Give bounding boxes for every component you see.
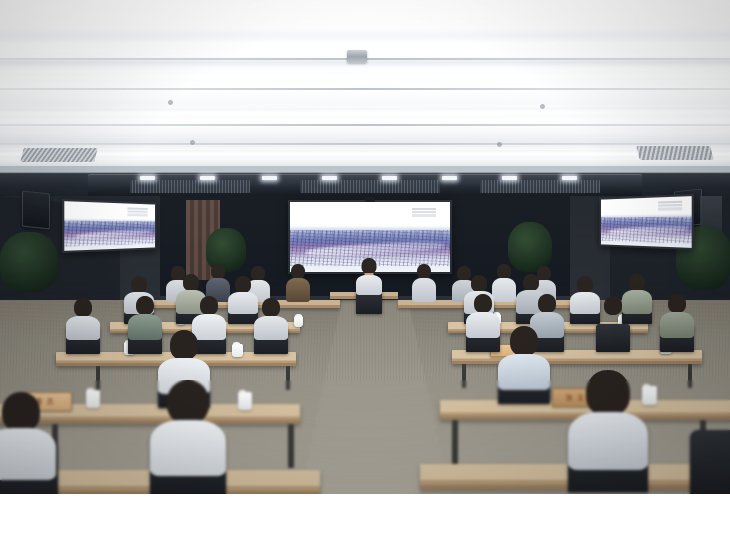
right-display-screen[interactable] [599, 194, 693, 250]
slide-skyline [604, 218, 687, 227]
attendee-head [497, 264, 511, 279]
speaker-grille [480, 180, 600, 193]
attendee-head [474, 294, 492, 313]
attendee-body [660, 312, 694, 338]
attendee-head [131, 276, 147, 293]
ceiling-fixture [190, 140, 195, 145]
downlight [562, 176, 577, 180]
attendee [412, 264, 436, 300]
attendee-foreground [150, 380, 226, 450]
speaker-grille [130, 180, 250, 193]
tea-cup [294, 316, 303, 327]
attendee [254, 298, 288, 332]
attendee-body [254, 316, 288, 340]
attendee-head [211, 264, 225, 279]
slide-logo-icon [658, 201, 682, 211]
slide-logo-icon [412, 208, 436, 217]
downlight [262, 176, 277, 180]
attendee [530, 294, 564, 330]
left-slide [64, 201, 155, 251]
slide-river [75, 228, 152, 240]
ceiling-fixture [497, 142, 502, 147]
attendee [466, 294, 500, 330]
ceiling-light-strip [0, 71, 730, 83]
slide-river [306, 240, 444, 257]
downlight [502, 176, 517, 180]
ceiling-fixture [540, 104, 545, 109]
desk-leg [452, 420, 458, 464]
attendee-body [66, 316, 100, 340]
attendee-head [538, 294, 556, 313]
slide-logo-icon [128, 208, 148, 217]
ceiling-seam [0, 124, 730, 126]
attendee [660, 294, 694, 330]
attendee-head [183, 274, 199, 291]
attendee-foreground [568, 370, 648, 444]
conference-room-photograph: 委 员 张 主 任 [0, 0, 730, 494]
attendee [286, 264, 310, 300]
downlight [140, 176, 155, 180]
attendee-foreground [498, 326, 550, 374]
attendee-foreground [0, 392, 56, 456]
attendee [66, 298, 100, 332]
air-vent [20, 148, 97, 162]
attendee-body [412, 278, 436, 302]
photo-frame: 委 员 张 主 任 [0, 0, 730, 548]
ceiling-fixture [168, 100, 173, 105]
caption-strip [0, 494, 730, 548]
attendee-body [466, 312, 500, 338]
attendee-head [668, 294, 686, 313]
chair-row6[interactable] [690, 430, 730, 494]
attendee-head [586, 370, 630, 416]
attendee-head [577, 276, 593, 293]
attendee-head [291, 264, 305, 279]
attendee-head [74, 298, 92, 317]
desk-leg [286, 366, 290, 390]
attendee-head [136, 296, 154, 315]
attendee-body [568, 412, 648, 470]
attendee-head [2, 392, 40, 432]
tea-cup [232, 344, 243, 357]
ceiling-light-strip [0, 150, 730, 158]
attendee-head [170, 330, 198, 360]
attendee [356, 258, 382, 292]
attendee [206, 264, 230, 300]
slide-skyline [68, 222, 151, 231]
ceiling-seam [0, 88, 730, 90]
attendee-body [498, 354, 550, 390]
downlight [442, 176, 457, 180]
attendee-head [200, 296, 218, 315]
attendee-head [523, 274, 539, 291]
desk-leg [688, 364, 692, 388]
attendee-body [356, 275, 382, 295]
attendee-body [286, 278, 310, 302]
right-slide [601, 196, 692, 248]
attendee [596, 296, 630, 330]
attendee-foreground [158, 330, 210, 378]
desk-leg [288, 424, 294, 468]
attendee-head [417, 264, 431, 279]
attendee-head [262, 298, 280, 317]
attendee-body [0, 428, 56, 480]
attendee-body [128, 314, 162, 340]
attendee-head [510, 326, 538, 356]
tea-cup [238, 392, 252, 410]
smoke-detector-icon [347, 50, 367, 63]
wall-speaker-icon [22, 191, 50, 230]
downlight [322, 176, 337, 180]
attendee-body [596, 314, 630, 338]
ceiling-seam [0, 143, 730, 145]
attendee-head [629, 274, 645, 291]
attendee [128, 296, 162, 332]
ceiling-light-strip [0, 107, 730, 119]
potted-plant [0, 232, 58, 292]
desk-leg [462, 364, 466, 388]
attendee-head [362, 258, 377, 274]
downlight [200, 176, 215, 180]
attendee-body [150, 420, 226, 476]
speaker-grille [300, 180, 440, 193]
attendee-head [235, 276, 251, 293]
tea-cup [86, 390, 100, 408]
attendee-head [471, 275, 487, 292]
attendee [192, 296, 226, 332]
slide-skyline [296, 231, 443, 244]
left-display-screen[interactable] [62, 199, 156, 253]
downlight [382, 176, 397, 180]
slide-river [609, 225, 688, 235]
attendee-head [604, 296, 622, 315]
desk-leg [96, 366, 100, 390]
attendee-head [167, 380, 209, 424]
air-vent [636, 146, 713, 160]
